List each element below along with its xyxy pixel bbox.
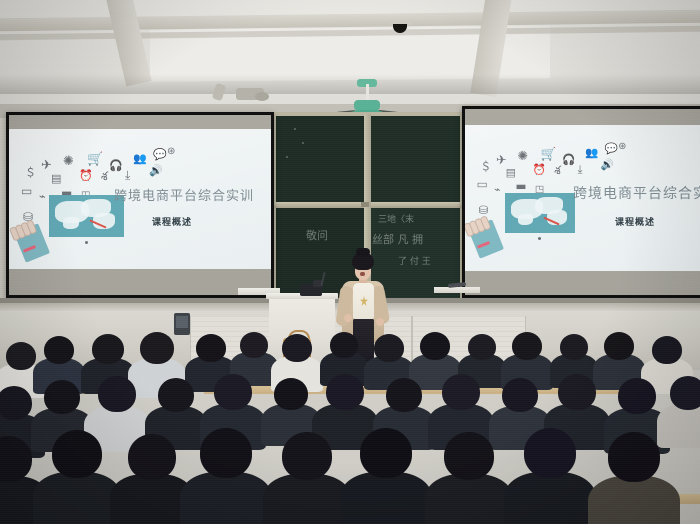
speech-bubble-icon: 💬 — [153, 149, 167, 160]
bar-card-icon: ▬ — [515, 181, 526, 193]
credit-card-icon: ▭ — [477, 179, 488, 191]
alarm-clock-icon: ⏰ — [79, 170, 93, 181]
alarm-clock-icon: ⏰ — [533, 165, 546, 176]
audience-member-head — [44, 380, 80, 414]
audience-member-head — [386, 378, 422, 412]
shopping-cart-icon: 🛒 — [87, 153, 103, 166]
chalkboard-clip — [361, 202, 369, 207]
audience-member-head — [512, 332, 542, 360]
audience-member-head — [240, 332, 268, 358]
presenter-hair-bun — [356, 248, 370, 256]
lecture-hall-photo: 敬问三地〈末丝部 凡 拥了 付 王 ＄✈✺🛒🎧👥💬⊛🔊⤓శ⏰▤▭⌁▬◳⛁ — [0, 0, 700, 524]
audience-member-head — [128, 434, 176, 480]
audience-member-body — [180, 472, 272, 524]
projection-screen-left[interactable]: ＄✈✺🛒🎧👥💬⊛🔊⤓శ⏰▤▭⌁▬◳⛁ — [6, 112, 274, 298]
people-group-icon: 👥 — [133, 153, 147, 164]
screen-left-bottom-margin — [9, 269, 271, 295]
dollar-coin-icon: ＄ — [481, 162, 492, 173]
audience-member-head — [92, 334, 124, 364]
screen-right-top-margin — [465, 109, 700, 125]
slide-subtitle-right: 课程概述 — [615, 215, 655, 228]
speaker-icon: 🔊 — [601, 160, 614, 171]
audience-member-head — [558, 374, 596, 410]
audience-member-head — [374, 334, 404, 362]
slide-world-map-left — [49, 195, 124, 237]
audience-member-head — [200, 428, 252, 478]
ceiling — [0, 0, 700, 112]
audience-member-body — [425, 474, 513, 524]
presenter-hand-right — [376, 318, 384, 326]
audience-member-body — [340, 472, 432, 524]
audience-member-head — [0, 386, 32, 420]
audience-member-head — [214, 374, 252, 410]
id-card-icon: ▤ — [51, 173, 61, 184]
student-audience — [0, 332, 700, 524]
audience-member-head — [652, 336, 682, 364]
audience-member-head — [604, 332, 634, 360]
dollar-coin-icon: ＄ — [25, 167, 36, 178]
id-card-icon: ▤ — [506, 168, 516, 179]
ceiling-speaker-icon — [255, 92, 269, 101]
screen-right-bottom-margin — [465, 271, 700, 295]
screen-left-surface: ＄✈✺🛒🎧👥💬⊛🔊⤓శ⏰▤▭⌁▬◳⛁ — [9, 115, 271, 295]
audience-member-head — [326, 374, 364, 410]
audience-member-head — [196, 334, 226, 362]
audience-member-body — [33, 472, 121, 524]
headphones-icon: 🎧 — [562, 155, 575, 166]
audience-member-head — [140, 332, 174, 364]
download-icon: ⤓ — [578, 164, 583, 176]
download-icon: ⤓ — [125, 169, 130, 181]
slide-right: ＄✈✺🛒🎧👥💬⊛🔊⤓శ⏰▤▭⌁▬◳⛁ — [465, 125, 700, 271]
presenter-hand-left — [344, 314, 352, 322]
chalk-note: 三地〈末 — [378, 216, 414, 226]
audience-member-head — [618, 378, 656, 414]
audience-member-body — [504, 472, 596, 524]
audience-member-head — [524, 428, 576, 478]
presenter-mouth — [360, 272, 365, 276]
slide-left: ＄✈✺🛒🎧👥💬⊛🔊⤓శ⏰▤▭⌁▬◳⛁ — [9, 129, 271, 269]
shopping-cart-icon: 🛒 — [541, 148, 557, 161]
coin-badge-icon: ⊛ — [167, 147, 175, 157]
audience-member-head — [444, 432, 494, 480]
audience-member-body — [588, 476, 680, 524]
audience-member-head — [608, 432, 660, 482]
audience-member-head — [468, 334, 496, 360]
person-icon: శ — [554, 165, 560, 177]
audience-member-head — [158, 378, 194, 412]
audience-member-head — [330, 332, 358, 358]
audience-member-head — [52, 430, 102, 478]
screen-right-surface: ＄✈✺🛒🎧👥💬⊛🔊⤓శ⏰▤▭⌁▬◳⛁ — [465, 109, 700, 295]
side-desk-right — [434, 287, 480, 293]
chalkboard-panel-top-left — [276, 116, 364, 202]
audience-member-head — [360, 428, 412, 478]
slide-subtitle-left: 课程概述 — [152, 215, 192, 228]
ceiling-shadow-gradient — [0, 74, 700, 94]
audience-member-head — [502, 378, 538, 412]
coin-badge-icon: ⊛ — [618, 142, 626, 152]
audience-member-head — [670, 376, 700, 410]
chalk-note: 敬问 — [306, 230, 328, 242]
airplane-icon: ✈ — [496, 154, 507, 167]
audience-member-head — [6, 342, 36, 370]
people-group-icon: 👥 — [585, 148, 598, 159]
screen-left-top-margin — [9, 115, 271, 129]
globe-gear-icon: ✺ — [63, 155, 74, 168]
audience-member-head — [560, 334, 588, 360]
speaker-icon: 🔊 — [149, 165, 163, 176]
speech-bubble-icon: 💬 — [605, 144, 618, 155]
headphones-icon: 🎧 — [109, 160, 123, 171]
credit-card-icon: ▭ — [21, 185, 32, 197]
audience-member-head — [442, 374, 480, 410]
audience-member-head — [282, 432, 332, 480]
audience-member-head — [98, 376, 136, 412]
audience-member-head — [274, 378, 308, 410]
person-icon: శ — [101, 170, 108, 182]
audience-member-head — [44, 336, 74, 364]
audience-member-body — [657, 404, 700, 448]
rss-wifi-icon: ⌁ — [39, 191, 46, 202]
rss-wifi-icon: ⌁ — [494, 185, 500, 196]
audience-member-body — [263, 474, 351, 524]
slide-title-right: 跨境电商平台综合实训 — [573, 183, 700, 203]
globe-gear-icon: ✺ — [517, 150, 528, 163]
airplane-icon: ✈ — [41, 159, 52, 172]
chalk-note: 丝部 凡 拥 — [372, 234, 423, 246]
chalk-note: 了 付 王 — [398, 258, 431, 268]
slide-world-map-right — [505, 193, 575, 233]
audience-member-head — [420, 332, 450, 360]
projection-screen-right[interactable]: ＄✈✺🛒🎧👥💬⊛🔊⤓శ⏰▤▭⌁▬◳⛁ — [462, 106, 700, 298]
slide-title-left: 跨境电商平台综合实训 — [114, 185, 254, 204]
chalkboard-panel-top-right — [370, 116, 460, 202]
audience-member-head — [282, 334, 312, 362]
